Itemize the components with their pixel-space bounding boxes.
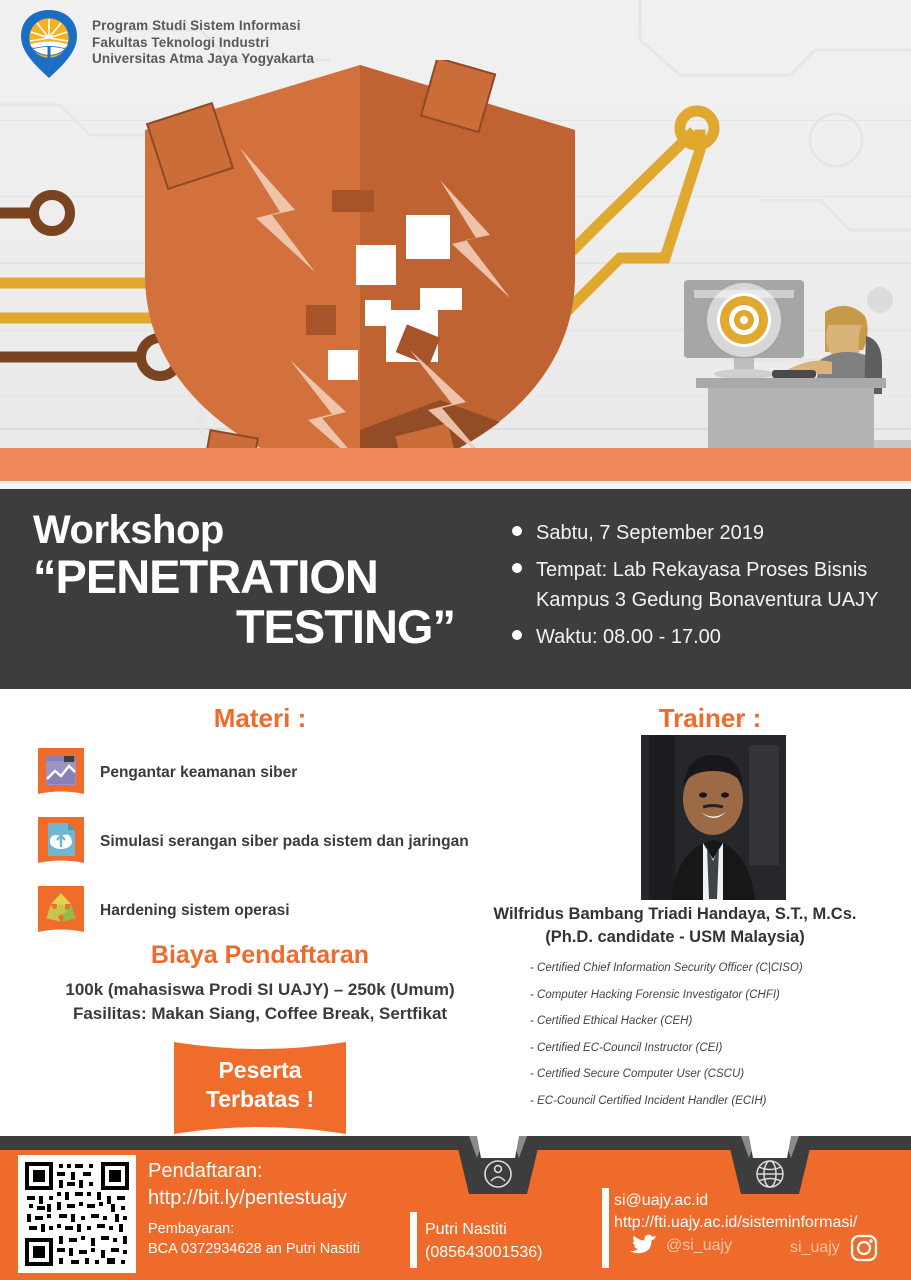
bullet-icon — [512, 526, 522, 536]
hero-white-line — [0, 481, 911, 489]
person-tab — [455, 1136, 541, 1194]
instagram-block[interactable]: si_uajy — [790, 1234, 878, 1262]
twitter-block[interactable]: @si_uajy — [630, 1234, 732, 1258]
trainer-photo — [641, 735, 786, 900]
payment-account: BCA 0372934628 an Putri Nastiti — [148, 1239, 360, 1259]
poster: Program Studi Sistem Informasi Fakultas … — [0, 0, 911, 1280]
registration-qr-code[interactable] — [18, 1155, 136, 1273]
materi-label-1: Pengantar keamanan siber — [100, 764, 297, 782]
materi-item-2: Simulasi serangan siber pada sistem dan … — [38, 817, 469, 867]
materi-item-1: Pengantar keamanan siber — [38, 748, 297, 798]
event-venue-sub: Kampus 3 Gedung Bonaventura UAJY — [536, 585, 878, 615]
trainer-certifications: - Certified Chief Information Security O… — [520, 955, 910, 1114]
biaya-heading: Biaya Pendaftaran — [30, 941, 490, 970]
certification-item: - EC-Council Certified Incident Handler … — [520, 1088, 910, 1115]
certification-item: - Certified Secure Computer User (CSCU) — [520, 1061, 910, 1088]
instagram-icon — [850, 1234, 878, 1262]
bullet-icon — [512, 630, 522, 640]
event-venue: Tempat: Lab Rekayasa Proses Bisnis — [536, 555, 878, 585]
title-line-3: TESTING” — [33, 602, 483, 652]
title-line-1: Workshop — [33, 508, 483, 552]
certification-item: - Certified Ethical Hacker (CEH) — [520, 1008, 910, 1035]
event-time: Waktu: 08.00 - 17.00 — [536, 622, 721, 652]
trainer-heading: Trainer : — [620, 703, 800, 734]
institution-name: Program Studi Sistem Informasi Fakultas … — [92, 8, 314, 68]
materi-heading: Materi : — [150, 703, 370, 734]
instagram-handle: si_uajy — [790, 1239, 840, 1257]
certification-item: - Certified Chief Information Security O… — [520, 955, 910, 982]
banner-line-1: Peserta — [218, 1057, 301, 1083]
registration-url[interactable]: http://bit.ly/pentestuajy — [148, 1185, 360, 1212]
contact-person: Putri Nastiti (085643001536) — [425, 1218, 542, 1264]
workshop-title: Workshop “PENETRATION TESTING” — [33, 508, 483, 652]
institution-line-2: Fakultas Teknologi Industri — [92, 35, 314, 52]
globe-tab — [727, 1136, 813, 1194]
registration-info: Pendaftaran: http://bit.ly/pentestuajy P… — [148, 1158, 360, 1259]
email-address[interactable]: si@uajy.ac.id — [614, 1190, 857, 1212]
divider-2 — [602, 1188, 609, 1268]
twitter-handle: @si_uajy — [666, 1237, 732, 1255]
biaya-amount: 100k (mahasiswa Prodi SI UAJY) – 250k (U… — [30, 980, 490, 1000]
trainer-name-block: Wilfridus Bambang Triadi Handaya, S.T., … — [440, 903, 910, 949]
materi-item-3: Hardening sistem operasi — [38, 886, 290, 936]
event-details: Sabtu, 7 September 2019 Tempat: Lab Reka… — [512, 518, 902, 659]
event-detail-row: Sabtu, 7 September 2019 — [512, 518, 902, 548]
institution-line-1: Program Studi Sistem Informasi — [92, 18, 314, 35]
certification-item: - Computer Hacking Forensic Investigator… — [520, 982, 910, 1009]
file-cloud-upload-icon — [38, 817, 84, 867]
materi-label-3: Hardening sistem operasi — [100, 902, 290, 920]
materi-label-2: Simulasi serangan siber pada sistem dan … — [100, 833, 469, 851]
recycle-arrows-icon — [38, 886, 84, 936]
trainer-subtitle: (Ph.D. candidate - USM Malaysia) — [440, 926, 910, 949]
hero-orange-band — [0, 448, 911, 481]
registration-label: Pendaftaran: — [148, 1158, 360, 1185]
event-date: Sabtu, 7 September 2019 — [536, 518, 764, 548]
registration-fee-block: Biaya Pendaftaran 100k (mahasiswa Prodi … — [30, 941, 490, 1024]
event-detail-row: Tempat: Lab Rekayasa Proses Bisnis Kampu… — [512, 555, 902, 615]
header: Program Studi Sistem Informasi Fakultas … — [18, 8, 314, 80]
uajy-logo — [18, 8, 80, 80]
biaya-facilities: Fasilitas: Makan Siang, Coffee Break, Se… — [30, 1004, 490, 1024]
bullet-icon — [512, 563, 522, 573]
event-detail-row: Waktu: 08.00 - 17.00 — [512, 622, 902, 652]
contact-phone: (085643001536) — [425, 1241, 542, 1264]
shattered-shield-icon — [110, 60, 610, 489]
title-line-2: “PENETRATION — [33, 552, 483, 602]
web-contact: si@uajy.ac.id http://fti.uajy.ac.id/sist… — [614, 1190, 857, 1234]
limited-seats-banner: Peserta Terbatas ! — [174, 1042, 346, 1134]
chart-monitor-icon — [38, 748, 84, 798]
institution-line-3: Universitas Atma Jaya Yogyakarta — [92, 51, 314, 68]
contact-name: Putri Nastiti — [425, 1218, 542, 1241]
website-url[interactable]: http://fti.uajy.ac.id/sisteminformasi/ — [614, 1212, 857, 1234]
certification-item: - Certified EC-Council Instructor (CEI) — [520, 1035, 910, 1062]
payment-label: Pembayaran: — [148, 1219, 360, 1239]
twitter-icon — [630, 1234, 658, 1258]
divider-1 — [410, 1212, 417, 1268]
trainer-name: Wilfridus Bambang Triadi Handaya, S.T., … — [440, 903, 910, 926]
person-at-computer-icon — [660, 270, 900, 460]
banner-line-2: Terbatas ! — [206, 1086, 314, 1112]
